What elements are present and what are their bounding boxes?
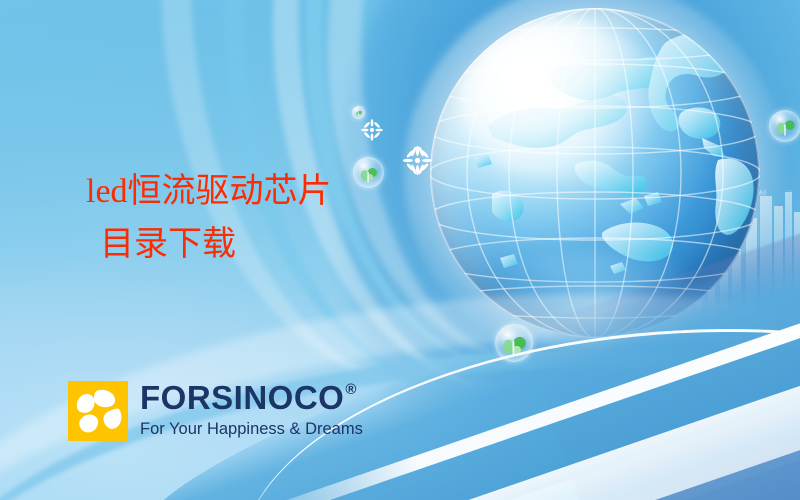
promo-banner: led恒流驱动芯片 目录下载 FORSINOCO® For Your Happi… <box>0 0 800 500</box>
brand-name-text: FORSINOCO <box>140 381 344 414</box>
page-title-line-1: led恒流驱动芯片 <box>86 166 416 219</box>
registered-trademark-symbol: ® <box>345 382 357 397</box>
brand-tagline: For Your Happiness & Dreams <box>140 421 363 438</box>
bubble-sprout-icon <box>495 324 533 362</box>
brand-logo: FORSINOCO® For Your Happiness & Dreams <box>68 381 363 441</box>
flower-icon <box>361 119 383 141</box>
page-title: led恒流驱动芯片 目录下载 <box>86 166 416 271</box>
pinwheel-icon <box>68 381 128 441</box>
brand-logo-text: FORSINOCO® For Your Happiness & Dreams <box>140 381 363 438</box>
bubble-sprout-icon <box>352 106 365 119</box>
brand-name: FORSINOCO® <box>140 381 363 414</box>
page-title-line-2: 目录下载 <box>86 219 416 272</box>
forsinoco-pinwheel-mark <box>68 381 128 441</box>
bubble-sprout-icon <box>769 110 800 142</box>
